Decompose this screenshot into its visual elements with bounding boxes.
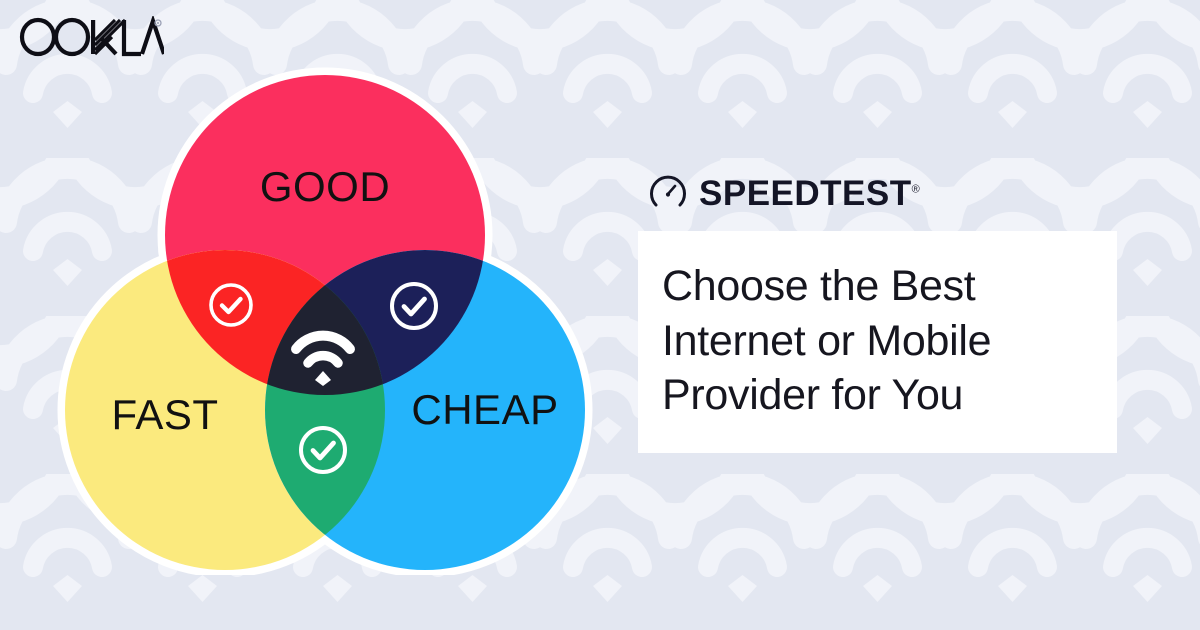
registered-trademark-icon: ® bbox=[912, 183, 920, 195]
venn-label-cheap: CHEAP bbox=[411, 386, 558, 433]
speedtest-wordmark: SPEEDTEST® bbox=[699, 176, 920, 211]
ookla-logo bbox=[16, 16, 164, 58]
speedtest-promo-card: GOOD FAST CHEAP bbox=[0, 0, 1200, 630]
right-column: SPEEDTEST® Choose the Best Internet or M… bbox=[638, 170, 1120, 453]
venn-label-good: GOOD bbox=[260, 163, 390, 210]
page-title: Choose the Best Internet or Mobile Provi… bbox=[662, 259, 1093, 423]
venn-diagram: GOOD FAST CHEAP bbox=[40, 55, 620, 575]
speedtest-logo: SPEEDTEST® bbox=[638, 170, 1120, 216]
speedometer-icon bbox=[650, 175, 686, 211]
venn-label-fast: FAST bbox=[111, 391, 218, 438]
speedtest-wordmark-text: SPEEDTEST bbox=[699, 174, 912, 213]
headline-card: Choose the Best Internet or Mobile Provi… bbox=[638, 231, 1117, 453]
